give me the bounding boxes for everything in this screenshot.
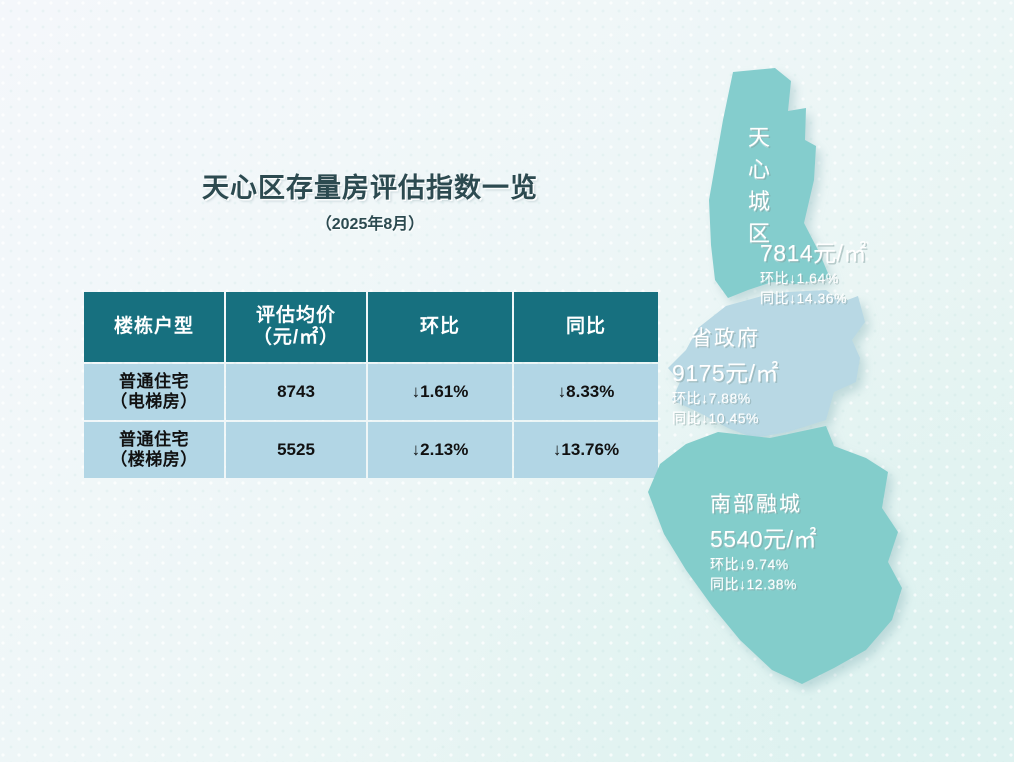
assessment-index-table: 楼栋户型 评估均价 （元/㎡） 环比 同比 普通住宅 （电梯房） (82, 290, 660, 480)
housing-type-line1: 普通住宅 (84, 430, 224, 450)
table-row: 普通住宅 （电梯房） 8743 ↓1.61% ↓8.33% (84, 364, 658, 420)
cell-housing-type: 普通住宅 （楼梯房） (84, 422, 224, 478)
housing-type-line2: （楼梯房） (84, 450, 224, 470)
infographic-canvas: 天心区存量房评估指数一览 （2025年8月） 楼栋户型 评估均价 （元/㎡） 环… (0, 0, 1014, 762)
page-title: 天心区存量房评估指数一览 (60, 166, 680, 205)
column-header-line1: 同比 (566, 316, 606, 337)
column-header-line1: 评估均价 (256, 305, 336, 326)
cell-mom: ↓1.61% (368, 364, 512, 420)
page-subtitle: （2025年8月） (60, 210, 680, 234)
housing-type-line1: 普通住宅 (84, 372, 224, 392)
district-map: 天 心 城 区 7814元/㎡ 环比↓1.64% 同比↓14.36% 省政府 9… (620, 40, 1010, 740)
table-header: 楼栋户型 评估均价 （元/㎡） 环比 同比 (84, 292, 658, 362)
housing-type-line2: （电梯房） (84, 392, 224, 412)
table-header-row: 楼栋户型 评估均价 （元/㎡） 环比 同比 (84, 292, 658, 362)
cell-housing-type: 普通住宅 （电梯房） (84, 364, 224, 420)
column-header-line1: 环比 (420, 316, 460, 337)
column-header-line1: 楼栋户型 (114, 316, 194, 337)
column-header-line2: （元/㎡） (226, 327, 366, 349)
map-svg (620, 40, 1010, 740)
map-region-tianxin[interactable] (709, 68, 830, 298)
table-row: 普通住宅 （楼梯房） 5525 ↓2.13% ↓13.76% (84, 422, 658, 478)
cell-avg-price: 5525 (226, 422, 366, 478)
column-header-avg-price: 评估均价 （元/㎡） (226, 292, 366, 362)
map-region-nanbu[interactable] (648, 426, 902, 684)
title-block: 天心区存量房评估指数一览 （2025年8月） (60, 166, 680, 234)
column-header-mom: 环比 (368, 292, 512, 362)
column-header-housing-type: 楼栋户型 (84, 292, 224, 362)
table-body: 普通住宅 （电梯房） 8743 ↓1.61% ↓8.33% 普通住宅 （楼梯房）… (84, 364, 658, 478)
map-region-shengzhengfu[interactable] (668, 290, 865, 438)
cell-avg-price: 8743 (226, 364, 366, 420)
cell-mom: ↓2.13% (368, 422, 512, 478)
